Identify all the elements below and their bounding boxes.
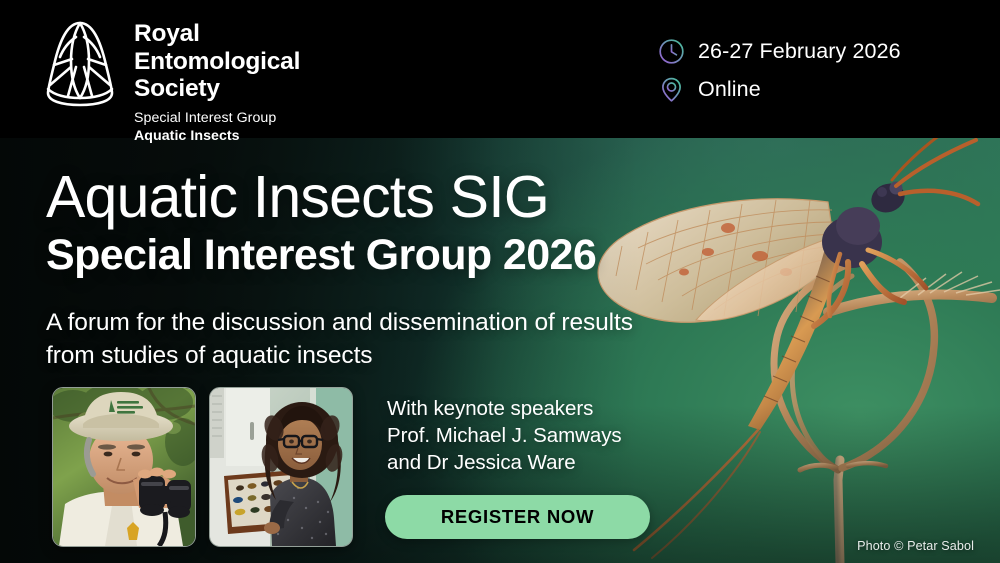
- speaker-photo-michael-samways-image: [53, 388, 195, 546]
- keynote-speakers-text: With keynote speakers Prof. Michael J. S…: [387, 395, 622, 476]
- society-logo: Royal Entomological Society Special Inte…: [38, 17, 300, 144]
- event-promo-poster: Royal Entomological Society Special Inte…: [0, 0, 1000, 563]
- keynote-line-3: and Dr Jessica Ware: [387, 449, 622, 476]
- speaker-photos: [52, 387, 353, 547]
- logo-subtitle-topic: Aquatic Insects: [134, 128, 300, 144]
- speaker-photo-jessica-ware: [209, 387, 353, 547]
- keynote-line-1: With keynote speakers: [387, 395, 622, 422]
- speaker-photo-michael-samways: [52, 387, 196, 547]
- event-location-label: Online: [698, 77, 761, 102]
- event-date-label: 26-27 February 2026: [698, 39, 901, 64]
- event-date-row: 26-27 February 2026: [658, 32, 901, 70]
- logo-subtitle-sig: Special Interest Group: [134, 110, 300, 126]
- logo-org-line-3: Society: [134, 75, 300, 103]
- photo-credit: Photo © Petar Sabol: [857, 539, 974, 553]
- royal-entomological-society-moth-logo-icon: [38, 17, 122, 109]
- event-description: A forum for the discussion and dissemina…: [46, 307, 666, 372]
- page-title: Aquatic Insects SIG: [46, 168, 549, 227]
- speaker-photo-jessica-ware-image: [210, 388, 352, 546]
- event-meta: 26-27 February 2026 Online: [658, 32, 901, 108]
- keynote-line-2: Prof. Michael J. Samways: [387, 422, 622, 449]
- logo-org-line-2: Entomological: [134, 48, 300, 76]
- main-content: Aquatic Insects SIG Special Interest Gro…: [0, 138, 1000, 563]
- header-bar: Royal Entomological Society Special Inte…: [0, 0, 1000, 138]
- page-subtitle: Special Interest Group 2026: [46, 234, 596, 277]
- register-now-button[interactable]: REGISTER NOW: [385, 495, 650, 539]
- location-pin-icon: [658, 76, 685, 103]
- clock-icon: [658, 38, 685, 65]
- event-location-row: Online: [658, 70, 901, 108]
- logo-org-line-1: Royal: [134, 20, 300, 48]
